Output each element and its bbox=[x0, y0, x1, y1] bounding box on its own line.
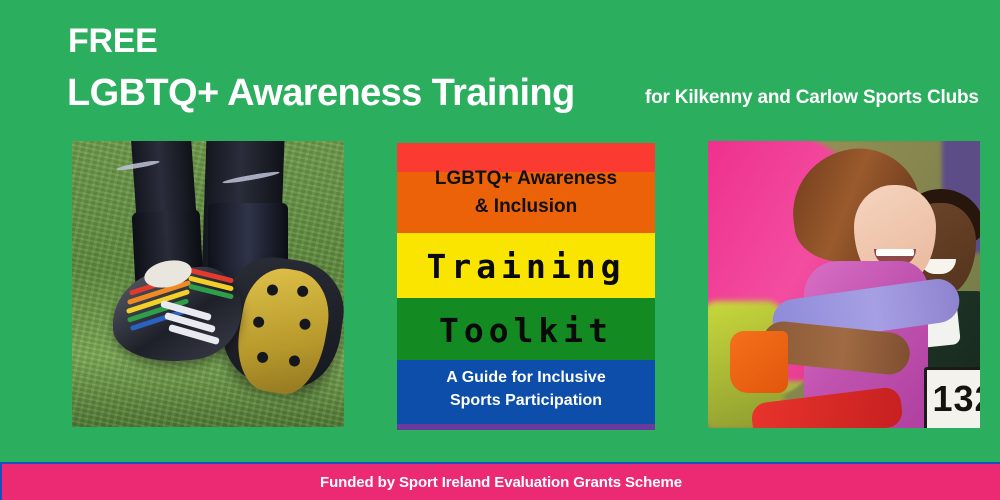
poster-header: FREE LGBTQ+ Awareness Training for Kilke… bbox=[0, 0, 1000, 132]
stripe-purple bbox=[397, 424, 655, 430]
toolkit-heading-line1: LGBTQ+ Awareness bbox=[397, 165, 655, 193]
toolkit-subtitle-line1: A Guide for Inclusive bbox=[397, 366, 655, 389]
toolkit-heading-line2: & Inclusion bbox=[397, 193, 655, 221]
page-title: LGBTQ+ Awareness Training bbox=[67, 74, 575, 112]
photo-football-boots bbox=[72, 141, 344, 427]
orange-sleeve bbox=[730, 331, 788, 393]
funding-banner-text: Funded by Sport Ireland Evaluation Grant… bbox=[320, 474, 682, 491]
toolkit-subtitle-line2: Sports Participation bbox=[397, 389, 655, 412]
free-label: FREE bbox=[68, 24, 157, 58]
funding-banner: Funded by Sport Ireland Evaluation Grant… bbox=[0, 462, 1000, 500]
photo-runners-hugging: 132 bbox=[708, 141, 980, 428]
header-subtitle: for Kilkenny and Carlow Sports Clubs bbox=[645, 88, 979, 107]
toolkit-subtitle: A Guide for Inclusive Sports Participati… bbox=[397, 366, 655, 412]
poster-canvas: FREE LGBTQ+ Awareness Training for Kilke… bbox=[0, 0, 1000, 500]
toolkit-word-training: Training bbox=[397, 247, 655, 286]
race-bib-number: 132 bbox=[924, 367, 980, 428]
runner-a-teeth bbox=[876, 249, 914, 256]
toolkit-heading: LGBTQ+ Awareness & Inclusion bbox=[397, 165, 655, 221]
toolkit-word-toolkit: Toolkit bbox=[397, 311, 655, 350]
toolkit-cover-image: LGBTQ+ Awareness & Inclusion Training To… bbox=[397, 143, 655, 430]
